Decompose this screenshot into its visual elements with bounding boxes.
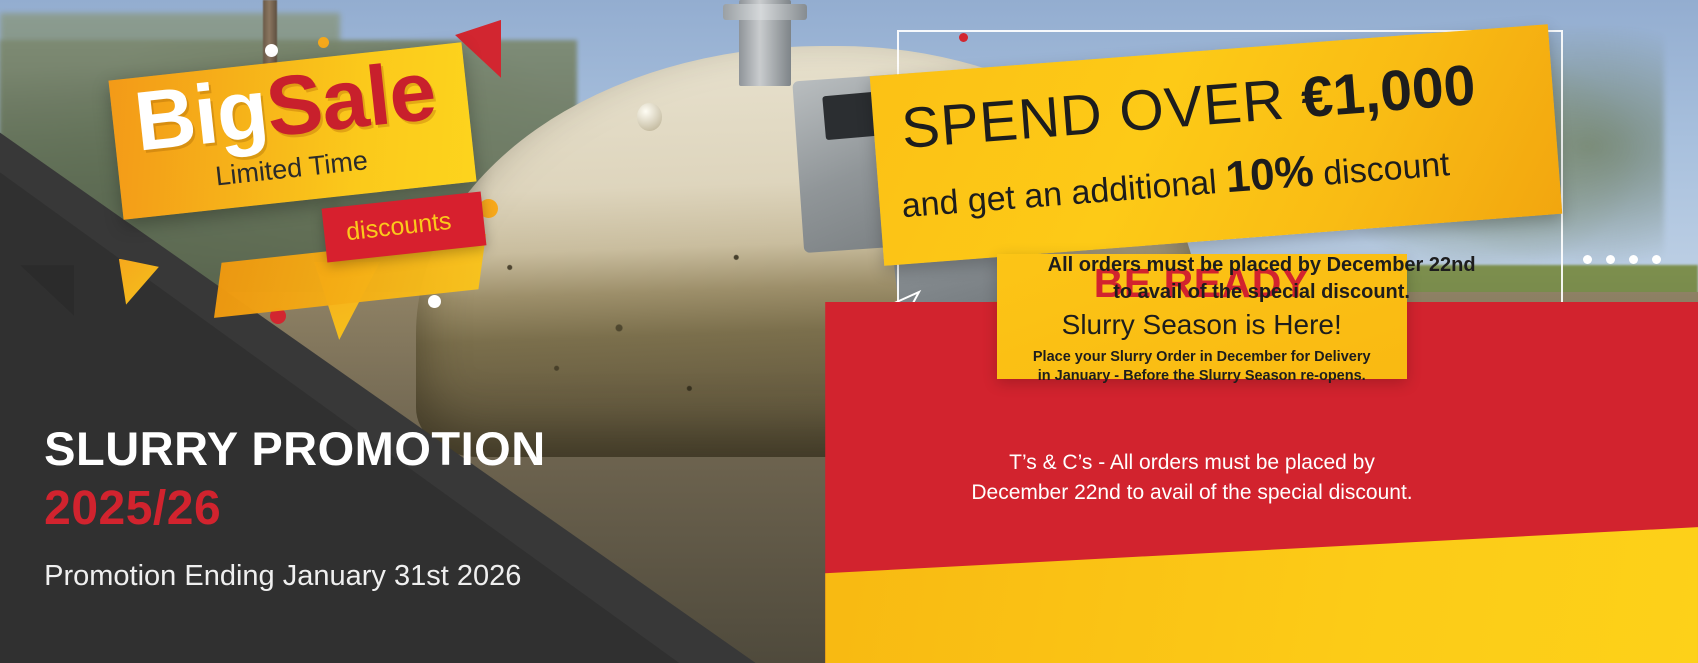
- yellow-dot-icon-1: [318, 37, 329, 48]
- tanker-chimney-cap: [723, 4, 806, 20]
- bottom-bar-text: All orders must be placed by December 22…: [825, 252, 1698, 643]
- bottom-bar-line2: to avail of the special discount.: [825, 279, 1698, 306]
- promotional-banner: BigSale Limited Time discounts SPEND OVE…: [0, 0, 1698, 663]
- additional-discount-prefix: and get an additional: [900, 163, 1227, 226]
- tanker-rivet: [637, 103, 662, 131]
- promotion-end-date: Promotion Ending January 31st 2026: [44, 560, 521, 593]
- additional-discount-suffix: discount: [1313, 146, 1452, 194]
- spend-over-amount: €1,000: [1299, 53, 1478, 130]
- discounts-label: discounts: [345, 207, 453, 247]
- spend-over-text: SPEND OVER: [900, 67, 1304, 162]
- white-dot-icon-1: [265, 44, 278, 57]
- discount-percent: 10%: [1224, 147, 1316, 203]
- big-sale-word-sale: Sale: [262, 43, 440, 155]
- white-dot-icon-2: [428, 295, 441, 308]
- promotion-year: 2025/26: [44, 481, 221, 536]
- bottom-bar-line1: All orders must be placed by December 22…: [825, 252, 1698, 279]
- page-title: SLURRY PROMOTION: [44, 421, 546, 476]
- big-sale-word-big: Big: [130, 61, 272, 169]
